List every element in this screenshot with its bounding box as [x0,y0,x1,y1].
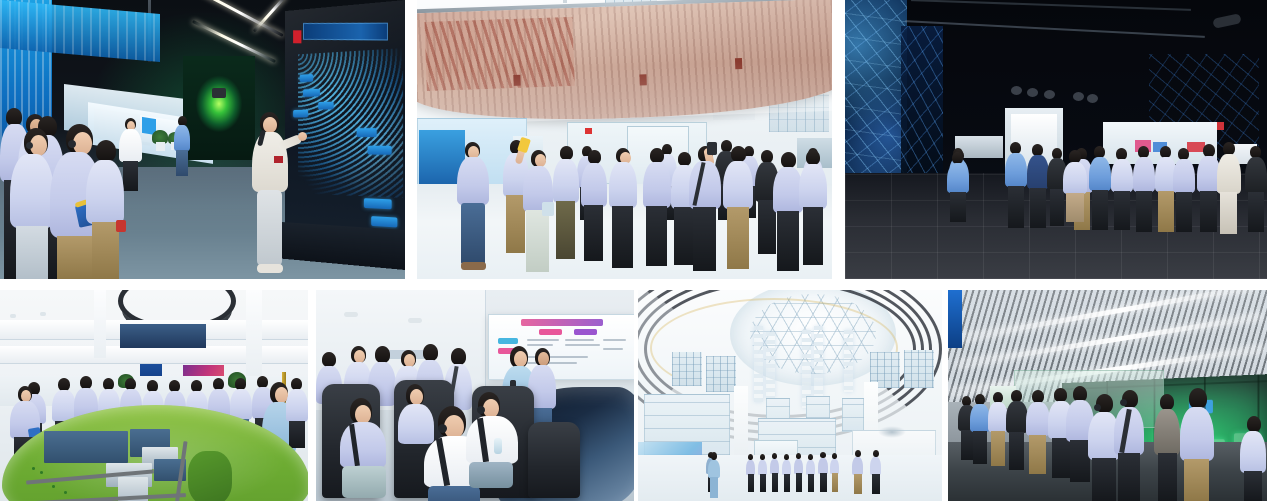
visitor-trousers [1176,192,1192,232]
visitor-trousers [1158,453,1177,501]
visitor-shirt [1006,401,1028,433]
visitor-trousers [1118,453,1140,501]
column [94,290,106,358]
map-data-tag [368,146,392,155]
visitor-shirt [340,422,386,468]
visitor-jeans [428,486,480,501]
visitor-trousers [777,211,799,271]
visitor-shirt [1111,159,1133,192]
panel-1-scene [0,0,405,279]
visitor [457,142,489,272]
model-road [36,493,186,501]
red-object [116,220,126,232]
visitor [1133,146,1155,232]
visitor [1089,146,1111,230]
exit-sign [1217,122,1224,130]
spotlight-icon [1011,86,1022,95]
crystal-chandelier [844,330,853,392]
visitor-trousers [973,431,987,464]
screen-text-line [565,344,600,346]
crystal-chandelier [814,326,823,396]
visitor-trousers [1114,191,1130,230]
visitor-hair [451,348,466,365]
visitor [1245,146,1267,232]
crystal-chandelier [754,326,763,402]
visitor-trousers [1136,191,1152,232]
visitor-shirt [870,457,881,475]
presenter-shoes [257,264,283,273]
visitor-trousers [832,473,838,492]
visitor [1180,388,1214,501]
visitor-shirt [1005,153,1027,187]
visitor-trousers [1244,471,1262,501]
visitor [782,454,791,492]
glass-block-panel [706,356,736,392]
visitor [799,150,827,268]
guide [708,452,720,498]
model-factory-building [44,431,128,463]
visitor [1005,142,1027,228]
spotlight-icon [1087,94,1098,103]
panel-4-scene [0,290,308,501]
visitor [852,450,863,494]
visitor-trousers [748,474,754,492]
glass-block-panel [672,352,702,386]
mural-seal-stamp [734,58,741,69]
screen-section-chip [498,338,518,344]
screen-title-bar [521,319,603,326]
visitor-shirt [770,459,779,474]
photo-panel-4[interactable] [0,290,308,501]
visitor-hair [1247,416,1261,432]
map-data-tag [318,102,333,110]
visitor-shirt [1180,407,1214,461]
visitor-hair [650,148,664,163]
visitor-trousers [123,161,138,191]
screen-text-line [527,339,559,341]
visitor-trousers [693,207,716,271]
water-bottle [494,438,502,454]
map-data-tag [357,128,377,137]
visitor-trousers [1200,191,1217,232]
exit-sign [585,128,592,134]
plant-pot [156,142,165,151]
visitor [1026,390,1050,474]
visitor [553,146,579,261]
visitor-hair [588,150,601,164]
visitor-shirt [609,162,637,208]
visitor-trousers [854,474,862,494]
visitor [172,116,192,178]
spotlight-icon [1027,88,1038,97]
visitor-hair [806,150,820,165]
presenter-trousers [257,190,282,266]
visitor-hair [1189,388,1207,409]
portal-spotlight [212,88,226,98]
presenter [248,112,294,279]
visitor-trousers [1248,192,1264,232]
ceiling-downlight [10,314,16,318]
visitor-jeans [461,203,485,265]
glass-block-panel [904,350,934,388]
visitor-shirt [947,163,969,193]
visitor [746,454,755,492]
crystal-chandelier [766,332,775,398]
visitor [870,450,881,494]
visitor [1063,150,1087,222]
visitor [1217,142,1241,234]
visitor-shirt [806,460,815,475]
ceiling-downlight [40,312,46,316]
visitor-jacket [1217,154,1241,194]
visitor-trousers [772,473,778,492]
visitor [286,378,308,448]
visitor-shirt [1063,162,1087,194]
headset-icon [26,142,33,149]
visitor-shirt [1173,159,1195,193]
visitor-shirt [1089,157,1111,191]
visitor-shirt [1240,431,1266,473]
hexagonal-world-map [298,48,403,198]
screen-text-line [603,339,626,341]
visitor [581,150,607,262]
visitor-hair [855,450,861,457]
curtain-wall-window [842,398,864,432]
visitor-shirt [782,460,791,475]
hanging-scroll-mural [417,0,832,126]
visitor-trousers [1030,188,1046,228]
photo-panel-3[interactable] [845,0,1267,279]
visitor-shirt [581,163,607,207]
screen-text-line [565,339,594,341]
visitor-shirt [1245,157,1267,193]
visitor-trousers [796,473,802,492]
wall-logo-mark [878,426,906,438]
visitor [523,150,553,275]
visitor-shirt [1027,155,1049,189]
headset-icon [1094,404,1101,411]
visitor [1173,148,1195,232]
visitor-trousers [950,192,966,222]
screen-section-chip [574,329,597,335]
visitor-shirt [466,416,518,464]
visitor [830,453,839,492]
guide-trousers [710,477,718,498]
visitor-trousers [784,474,790,492]
screen-section-chip [539,329,562,335]
visitor-hair [322,352,336,367]
visitor-shirt [1133,157,1155,192]
visitor-trousers [820,473,827,492]
visitor [10,128,54,279]
visitor-shirt [852,457,863,475]
visitor-trousers [727,207,749,269]
visitor-shirt [794,459,803,474]
visitor-trousers [808,474,814,492]
visitor-hair [560,146,573,160]
visitor-shirt [988,402,1008,432]
visitor-hair [1160,394,1174,410]
panel-2-scene [417,0,832,279]
visitor-trousers [760,474,766,492]
map-data-tag [293,110,308,118]
visitor-shirt [1026,402,1050,436]
visitor-trousers [1066,193,1084,222]
visitor-trousers [526,210,549,272]
visitor-shirt [643,162,671,208]
screen-header-banner [303,23,388,41]
visitor-shirt [457,157,489,205]
simulator-seat [528,422,580,498]
visitor [1027,144,1049,228]
visitor [1111,148,1133,230]
map-data-tag [371,216,397,227]
visitor [1154,394,1180,501]
visitor-trousers [991,431,1005,466]
green-circuit-portal [183,56,255,160]
ceiling-spot [344,312,358,317]
panel-3-scene [845,0,1267,279]
model-landscape-strip [188,451,232,501]
visitor-shirt [86,160,124,224]
visitor-shirt [970,404,990,432]
map-data-tag [300,74,313,82]
model-tree [40,471,43,474]
visitor [643,148,671,268]
visitor-trousers [1029,435,1046,474]
visitor [818,452,828,492]
photo-panel-7[interactable] [948,290,1267,501]
shoes [461,262,486,270]
visitor-trousers [1009,432,1024,470]
visitor-trousers [16,226,48,279]
seated-visitor [340,398,386,498]
visitor-shirt [553,159,579,203]
photo-panel-1[interactable] [0,0,405,279]
visitor-trousers [584,205,603,261]
mural-seal-stamp [514,75,521,86]
visitor-trousers [469,462,513,488]
model-tree [64,491,67,494]
headset-icon [1120,399,1127,406]
ceiling-spot [408,318,422,323]
panel-5-scene [316,290,634,501]
visitor [770,453,779,492]
network-led-wall-secondary [901,26,943,176]
visitor-trousers [872,474,880,494]
visitor-hair [96,140,116,162]
panel-7-scene [948,290,1267,501]
map-data-tag [364,198,392,209]
spotlight-icon [1073,92,1084,101]
screen-text-line [603,348,623,350]
upper-glass-wall [120,324,206,348]
screen-logo-mark [293,30,301,43]
visitor-trousers [1008,186,1024,228]
model-tree [32,467,35,470]
visitor-trousers [342,466,386,498]
photo-panel-2[interactable] [417,0,832,279]
guide-hair [711,452,717,460]
visitor-trousers [1050,189,1064,226]
visitor-face [410,389,423,405]
visitor-trousers [1184,459,1209,501]
visitor [86,140,124,279]
visitor-shirt [799,164,827,209]
visitor-trousers [646,206,667,266]
visitor-trousers [1092,458,1116,501]
visitor-trousers [176,150,188,176]
visitor [609,148,637,270]
visitor [689,146,721,274]
model-tree [52,485,55,488]
visitor-hair [423,344,438,361]
visitor-shirt [830,459,839,474]
visitor [1114,390,1144,501]
mural-seal-stamp [639,75,646,86]
map-data-tag [303,89,320,97]
visitor-trousers [803,207,823,265]
visitor-shirt [723,161,753,209]
visitor-shirt [746,460,755,475]
visitor [794,453,803,492]
visitor-trousers [612,206,633,268]
visitor-shirt [758,460,767,475]
visitor-trousers [1220,192,1237,234]
presenter-face [514,351,527,367]
visitor [947,152,969,222]
headset-icon [68,140,76,148]
photo-panel-6[interactable] [638,290,942,501]
visitor-face [538,352,549,366]
visitor-shirt [10,154,54,228]
visitor [1240,416,1266,501]
visitor [758,454,767,492]
visitor-hair [873,450,879,457]
visitor-shirt [818,458,828,474]
visitor-hair [731,146,746,162]
presenter-hand [298,132,307,141]
guide-shirt [708,460,720,478]
visitor [1006,390,1028,470]
visitor-shirt [174,125,190,151]
photo-panel-5[interactable] [316,290,634,501]
visitor [806,454,815,492]
visitor-trousers [289,421,305,448]
photo-collage [0,0,1267,501]
panel-6-scene [638,290,942,501]
visitor-trousers [92,222,119,279]
visitor-trousers [1158,191,1174,232]
headset-icon [477,406,485,414]
visitor-jacket [1154,409,1180,455]
seated-visitor [466,392,518,488]
blue-wall-tab [948,290,962,348]
visitor [988,392,1008,466]
presenter-badge [274,156,283,163]
mural-city-detail [425,17,575,92]
spotlight-icon [1044,90,1055,99]
visitor [970,394,990,464]
visitor-trousers [1092,190,1108,230]
smartphone [707,142,717,155]
visitor-hair [375,346,390,363]
visitor [723,146,753,272]
visitor-trousers [556,201,575,259]
visitor-trousers [1070,440,1090,482]
visitor-shirt [286,389,308,422]
visitor-hair [781,152,796,168]
headset-icon [438,424,447,433]
